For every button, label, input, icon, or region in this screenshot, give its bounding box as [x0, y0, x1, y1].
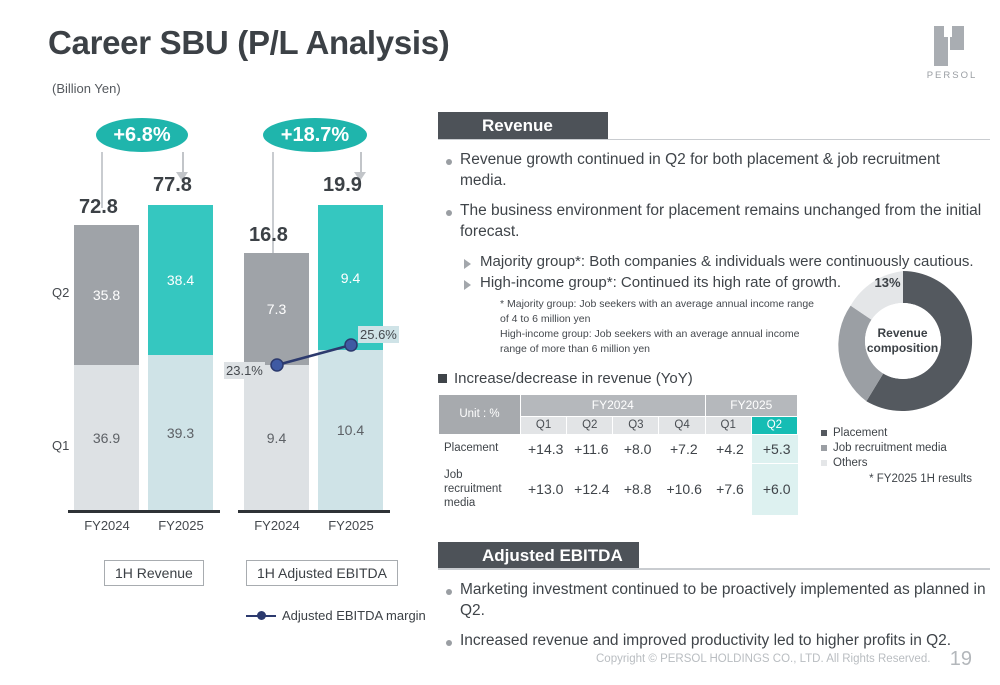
table-row-0-col-5: +5.3 — [751, 434, 797, 463]
table-qheader-2: Q3 — [613, 416, 659, 434]
page-title: Career SBU (P/L Analysis) — [48, 24, 450, 62]
charts-region: +6.8% 72.8 77.8 Q2 Q1 35.8 36.9 38.4 39.… — [0, 100, 430, 640]
ebitda-margin-value-fy2025: 25.6% — [358, 326, 399, 343]
ebitda-axis-line — [238, 510, 390, 513]
ebitda-margin-legend: Adjusted EBITDA margin — [246, 608, 426, 623]
revenue-bullet-1-text: Revenue growth continued in Q2 for both … — [460, 150, 990, 192]
ebitda-xtick-fy2025: FY2025 — [316, 518, 386, 533]
revenue-section-header: Revenue — [438, 112, 990, 140]
revenue-bar-fy2024-q2: 35.8 — [74, 225, 139, 365]
legend-swatch-placement — [821, 430, 827, 436]
donut-legend-item-placement: Placement — [821, 427, 990, 439]
revenue-chart-caption: 1H Revenue — [104, 560, 204, 586]
donut-label-placement: 66% — [958, 376, 984, 391]
revenue-section-rule — [438, 139, 990, 141]
ebitda-bullet-2-text: Increased revenue and improved productiv… — [460, 631, 951, 652]
triangle-right-icon — [458, 252, 480, 272]
ebitda-total-fy2025: 19.9 — [323, 174, 362, 197]
revenue-bar-fy2024-q1: 36.9 — [74, 365, 139, 510]
revenue-total-fy2024: 72.8 — [79, 196, 118, 219]
revenue-bullet-1: Revenue growth continued in Q2 for both … — [438, 150, 990, 192]
table-row: Placement +14.3 +11.6 +8.0 +7.2 +4.2 +5.… — [439, 434, 798, 463]
donut-center-line1: Revenue — [877, 326, 927, 341]
table-group-fy2025: FY2025 — [705, 394, 797, 416]
revenue-xtick-fy2025: FY2025 — [146, 518, 216, 533]
table-row-1-col-1: +12.4 — [567, 463, 613, 515]
margin-legend-label: Adjusted EBITDA margin — [282, 608, 426, 623]
ebitda-margin-value-fy2024: 23.1% — [224, 362, 265, 379]
table-header-row-fy: Unit : % FY2024 FY2025 — [439, 394, 798, 416]
page-number: 19 — [950, 648, 972, 671]
donut-legend-item-job-recruitment-media: Job recruitment media — [821, 442, 990, 454]
ebitda-bullet-1: Marketing investment continued to be pro… — [438, 580, 990, 622]
revenue-bar-fy2025-q1: 39.3 — [148, 355, 213, 510]
legend-swatch-others — [821, 460, 827, 466]
revenue-total-fy2025: 77.8 — [153, 174, 192, 197]
revenue-bar-fy2025: 38.4 39.3 — [148, 205, 213, 510]
donut-label-job-recruitment-media: 21% — [813, 327, 839, 342]
ebitda-section-title: Adjusted EBITDA — [438, 542, 639, 570]
yoy-table-heading-text: Increase/decrease in revenue (YoY) — [454, 370, 693, 387]
table-row-0-col-2: +8.0 — [613, 434, 659, 463]
persol-logo-text: PERSOL — [921, 70, 983, 81]
ebitda-xtick-fy2024: FY2024 — [242, 518, 312, 533]
bullet-dot-icon — [438, 580, 460, 622]
persol-logo: PERSOL — [921, 22, 983, 81]
table-row-0-col-3: +7.2 — [659, 434, 705, 463]
table-row-0-col-0: +14.3 — [521, 434, 567, 463]
table-qheader-4: Q1 — [705, 416, 751, 434]
donut-label-others: 13% — [875, 275, 901, 290]
table-row-1-col-2: +8.8 — [613, 463, 659, 515]
table-qheader-5-highlight: Q2 — [751, 416, 797, 434]
ebitda-bar-fy2024-q2: 7.3 — [244, 253, 309, 365]
donut-legend-label-placement: Placement — [833, 427, 887, 439]
revenue-footnote: * Majority group: Job seekers with an av… — [438, 297, 818, 358]
copyright-text: Copyright © PERSOL HOLDINGS CO., LTD. Al… — [596, 653, 930, 665]
donut-center-line2: composition — [867, 341, 938, 356]
table-row-1-col-4: +7.6 — [705, 463, 751, 515]
square-bullet-icon — [438, 374, 447, 383]
revenue-subbullet-2-text: High-income group*: Continued its high r… — [480, 273, 841, 293]
table-row-1-col-3: +10.6 — [659, 463, 705, 515]
revenue-bar-fy2025-q2: 38.4 — [148, 205, 213, 355]
revenue-arrow-stem — [182, 152, 184, 174]
revenue-bullet-2-text: The business environment for placement r… — [460, 201, 990, 243]
revenue-axis-line — [68, 510, 220, 513]
triangle-right-icon — [458, 273, 480, 293]
table-unit-cell: Unit : % — [439, 394, 521, 434]
donut-legend-label-job-recruitment-media: Job recruitment media — [833, 442, 947, 454]
table-row-0-col-4: +4.2 — [705, 434, 751, 463]
ebitda-bar-fy2025: 9.4 10.4 — [318, 205, 383, 510]
revenue-composition-donut: Revenue composition 66% 21% 13% Placemen… — [815, 265, 990, 485]
ebitda-bar-fy2024-q1: 9.4 — [244, 365, 309, 510]
revenue-q1-row-label: Q1 — [52, 438, 69, 453]
revenue-xtick-fy2024: FY2024 — [72, 518, 142, 533]
margin-legend-swatch — [246, 615, 276, 617]
unit-note: (Billion Yen) — [52, 81, 121, 96]
bullet-dot-icon — [438, 631, 460, 652]
ebitda-total-fy2024: 16.8 — [249, 224, 288, 247]
table-qheader-0: Q1 — [521, 416, 567, 434]
ebitda-growth-badge: +18.7% — [263, 118, 367, 152]
ebitda-section-header: Adjusted EBITDA — [438, 542, 990, 570]
donut-legend-item-others: Others — [821, 457, 990, 469]
table-row-1-col-0: +13.0 — [521, 463, 567, 515]
ebitda-arrow-stem — [360, 152, 362, 174]
persol-logo-mark — [932, 22, 972, 66]
ebitda-bullet-2: Increased revenue and improved productiv… — [438, 631, 990, 652]
ebitda-bullet-1-text: Marketing investment continued to be pro… — [460, 580, 990, 622]
revenue-bar-fy2024: 35.8 36.9 — [74, 225, 139, 510]
revenue-section-title: Revenue — [438, 112, 608, 140]
table-row-0-label: Placement — [439, 434, 521, 463]
yoy-table: Unit : % FY2024 FY2025 Q1 Q2 Q3 Q4 Q1 Q2… — [438, 394, 798, 516]
revenue-bullet-2: The business environment for placement r… — [438, 201, 990, 243]
revenue-q2-row-label: Q2 — [52, 285, 69, 300]
ebitda-bar-fy2025-q1: 10.4 — [318, 350, 383, 510]
donut-graphic: Revenue composition 66% 21% 13% — [827, 265, 979, 417]
donut-note: * FY2025 1H results — [815, 473, 990, 485]
legend-swatch-job-recruitment-media — [821, 445, 827, 451]
slide-root: Career SBU (P/L Analysis) (Billion Yen) … — [0, 0, 1000, 685]
revenue-growth-badge: +6.8% — [96, 118, 188, 152]
table-qheader-3: Q4 — [659, 416, 705, 434]
bullet-dot-icon — [438, 150, 460, 192]
donut-center-label: Revenue composition — [865, 303, 941, 379]
table-row-1-label: Job recruitment media — [439, 463, 521, 515]
donut-legend: Placement Job recruitment media Others — [815, 427, 990, 469]
donut-legend-label-others: Others — [833, 457, 868, 469]
table-row-1-col-5: +6.0 — [751, 463, 797, 515]
ebitda-chart-caption: 1H Adjusted EBITDA — [246, 560, 398, 586]
table-qheader-1: Q2 — [567, 416, 613, 434]
table-row: Job recruitment media +13.0 +12.4 +8.8 +… — [439, 463, 798, 515]
table-group-fy2024: FY2024 — [521, 394, 706, 416]
ebitda-section-rule — [438, 568, 990, 570]
table-row-0-col-1: +11.6 — [567, 434, 613, 463]
bullet-dot-icon — [438, 201, 460, 243]
ebitda-bar-fy2024: 7.3 9.4 — [244, 253, 309, 510]
